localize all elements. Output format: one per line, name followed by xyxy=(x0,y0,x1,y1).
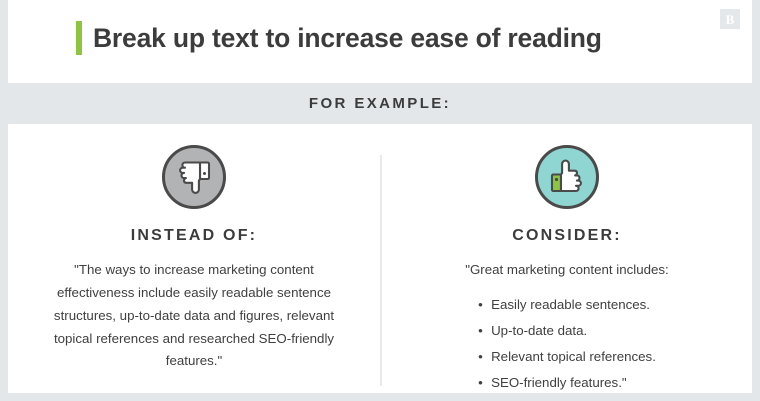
brand-logo-badge: B xyxy=(720,9,740,29)
list-item: SEO-friendly features." xyxy=(478,370,656,396)
title-row: Break up text to increase ease of readin… xyxy=(76,21,602,55)
header: Break up text to increase ease of readin… xyxy=(8,0,752,83)
intro-consider: "Great marketing content includes: xyxy=(417,259,717,282)
list-item: Up-to-date data. xyxy=(478,318,656,344)
heading-consider: CONSIDER: xyxy=(382,227,752,245)
for-example-band: FOR EXAMPLE: xyxy=(0,83,760,124)
paragraph-instead-of: "The ways to increase marketing content … xyxy=(49,259,339,373)
thumbs-up-icon xyxy=(535,145,599,209)
list-item: Easily readable sentences. xyxy=(478,292,656,318)
page-title: Break up text to increase ease of readin… xyxy=(93,25,602,52)
bullets-wrap: Easily readable sentences. Up-to-date da… xyxy=(382,282,752,396)
for-example-label: FOR EXAMPLE: xyxy=(309,95,451,112)
icon-wrap-positive xyxy=(382,145,752,209)
accent-bar xyxy=(76,21,82,55)
bullet-list: Easily readable sentences. Up-to-date da… xyxy=(478,292,656,396)
list-item: Relevant topical references. xyxy=(478,344,656,370)
icon-wrap-negative xyxy=(8,145,380,209)
comparison-panel: INSTEAD OF: "The ways to increase market… xyxy=(8,124,752,393)
column-instead-of: INSTEAD OF: "The ways to increase market… xyxy=(8,124,380,373)
infographic-canvas: Break up text to increase ease of readin… xyxy=(0,0,760,401)
thumbs-down-icon xyxy=(162,145,226,209)
column-consider: CONSIDER: "Great marketing content inclu… xyxy=(382,124,752,396)
heading-instead-of: INSTEAD OF: xyxy=(8,227,380,245)
